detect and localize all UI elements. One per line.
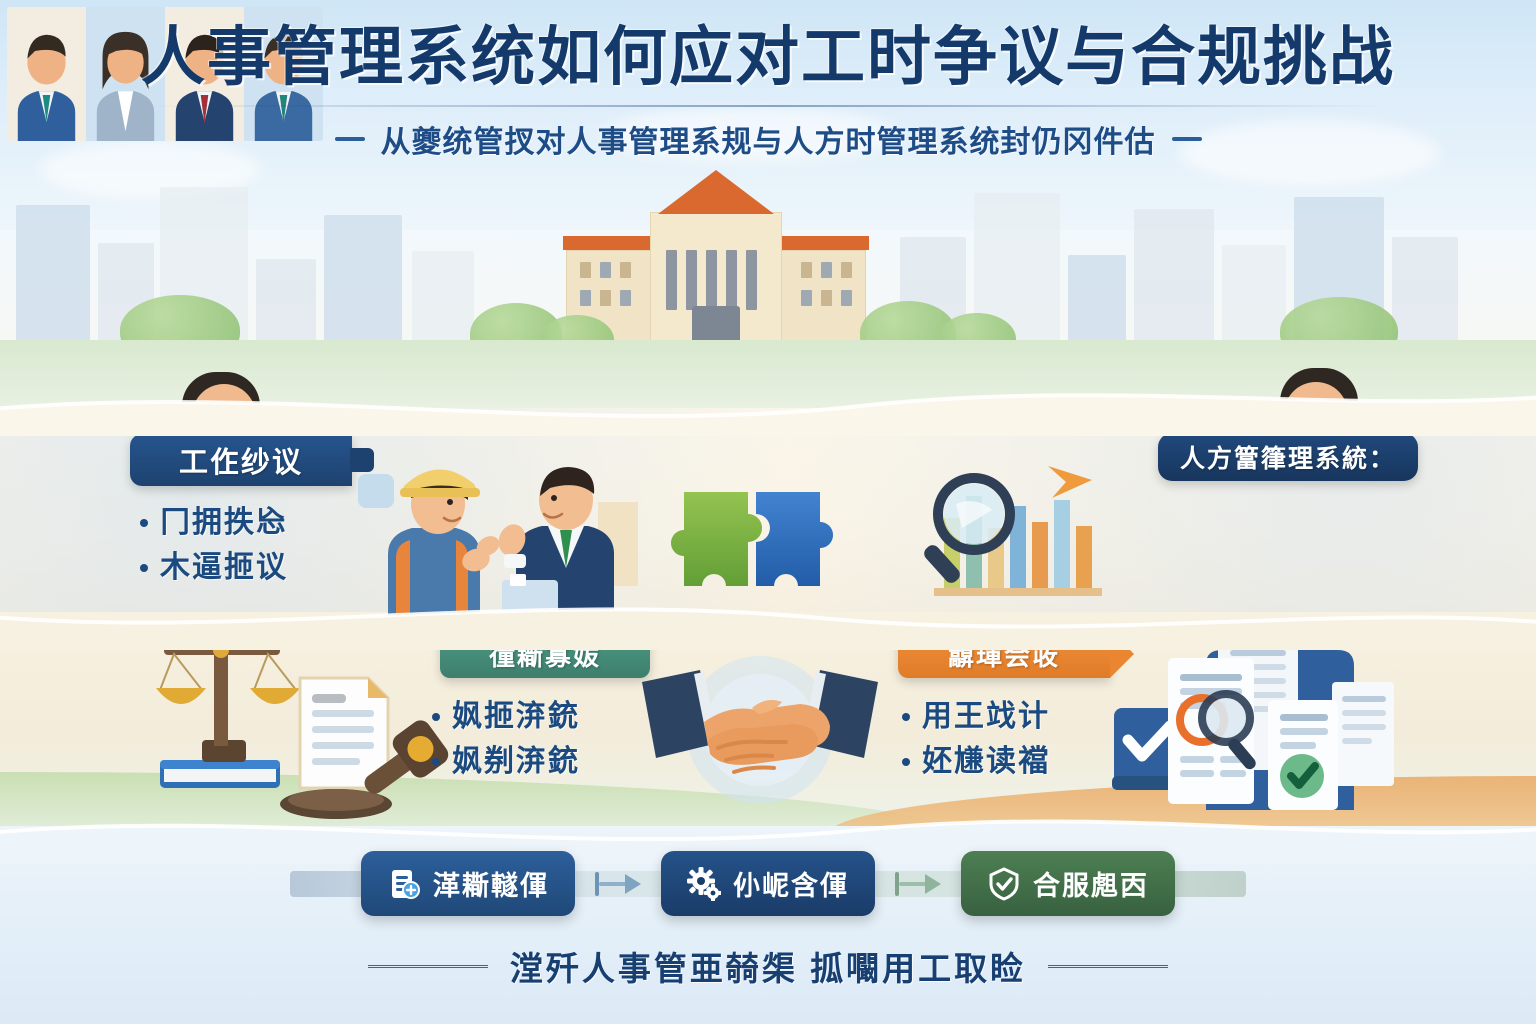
subtitle-dash-left	[335, 137, 365, 141]
title-divider	[148, 105, 1388, 107]
bullet-dot-icon	[140, 564, 148, 572]
step-optimize-button[interactable]: 仦㞾含㑮	[661, 851, 875, 916]
step-document-button[interactable]: 㴖䎰䡵㑮	[361, 851, 575, 916]
step-optimize-label: 仦㞾含㑮	[733, 864, 849, 903]
subtitle-dash-right	[1172, 137, 1202, 141]
shield-check-icon	[987, 867, 1021, 901]
list-item-label: 冂拥抶㤀	[160, 500, 288, 545]
list-item-label: 用王䇅计	[922, 694, 1050, 739]
audit-bullet-list: 用王䇅计 㚰尲读襠	[902, 694, 1050, 784]
list-item-label: 㚰尲读襠	[922, 739, 1050, 784]
badge-hr-system: 人方簹箻理系統：	[1158, 433, 1418, 481]
bullet-dot-icon	[902, 713, 910, 721]
list-item-label: 㚯㧜㳰銃	[452, 694, 580, 739]
analytics-magnifier-illustration	[906, 462, 1116, 602]
footer-rule-right	[1048, 965, 1168, 968]
bullet-dot-icon	[432, 713, 440, 721]
list-item: 㚰尲读襠	[902, 739, 1050, 784]
badge-labor-dispute: 工㑅纱议	[130, 434, 352, 486]
list-item: 木逼㧜议	[140, 545, 288, 590]
handshake-illustration	[634, 648, 886, 810]
badge-labor-dispute-label: 工㑅纱议	[179, 439, 303, 481]
header: 人事管理系统如何应对工时争议与合规挑战 从夔统管扠对人事管理系规与人方时管理系统…	[0, 24, 1536, 161]
list-item: 㚯㧜㳰銃	[432, 694, 580, 739]
footer: 漟歼人事管亜㚡㮡 㧓㘚用工取睑	[0, 942, 1536, 990]
list-item: 冂拥抶㤀	[140, 500, 288, 545]
process-steps-row: 㴖䎰䡵㑮	[0, 851, 1536, 916]
step-compliance-label: 合服䖕㐁	[1033, 864, 1149, 903]
list-item: 㚯㓬㳰銃	[432, 739, 580, 784]
list-item-label: 木逼㧜议	[160, 545, 288, 590]
puzzle-pieces-illustration	[648, 470, 878, 600]
list-item: 用王䇅计	[902, 694, 1050, 739]
documents-audit-illustration	[1110, 628, 1420, 818]
bullet-dot-icon	[140, 519, 148, 527]
dispute-bullet-list: 冂拥抶㤀 木逼㧜议	[140, 500, 288, 590]
wave-divider	[0, 586, 1536, 650]
bullet-dot-icon	[432, 758, 440, 766]
gear-icon	[687, 867, 721, 901]
subtitle-row: 从夔统管扠对人事管理系规与人方时管理系统封仍冈件估	[0, 117, 1536, 161]
badge-hr-system-label: 人方簹箻理系統：	[1180, 439, 1396, 475]
page-subtitle: 从夔统管扠对人事管理系规与人方时管理系统封仍冈件估	[381, 117, 1156, 161]
process-connector	[575, 870, 661, 898]
scales-gavel-illustration	[150, 620, 450, 820]
step-compliance-button[interactable]: 合服䖕㐁	[961, 851, 1175, 916]
footer-rule-left	[368, 965, 488, 968]
step-document-label: 㴖䎰䡵㑮	[433, 864, 549, 903]
footer-text: 漟歼人事管亜㚡㮡 㧓㘚用工取睑	[510, 942, 1026, 990]
mediation-bullet-list: 㚯㧜㳰銃 㚯㓬㳰銃	[432, 694, 580, 784]
list-item-label: 㚯㓬㳰銃	[452, 739, 580, 784]
infographic-poster: HR正豙 回褊人壶颇	[0, 0, 1536, 1024]
bullet-dot-icon	[902, 758, 910, 766]
document-add-icon	[387, 867, 421, 901]
wave-divider	[0, 372, 1536, 436]
process-connector	[875, 870, 961, 898]
page-title: 人事管理系统如何应对工时争议与合规挑战	[0, 24, 1536, 91]
